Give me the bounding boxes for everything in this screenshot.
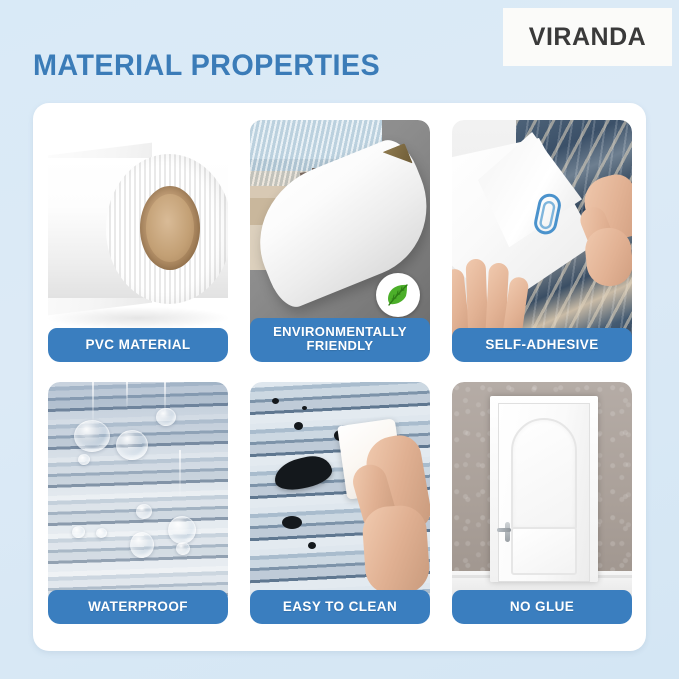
right-hand [566, 176, 632, 286]
feature-card-easy-to-clean[interactable]: EASY TO CLEAN [250, 382, 430, 624]
water-trail [92, 382, 94, 424]
water-droplet [156, 408, 176, 426]
feature-label-self-adhesive: SELF-ADHESIVE [452, 328, 632, 362]
ink-stain [272, 398, 279, 404]
feature-card-self-adhesive[interactable]: SELF-ADHESIVE [452, 120, 632, 362]
water-trail [179, 450, 181, 496]
left-hand [452, 247, 530, 337]
self-adhesive-image [452, 120, 632, 337]
door-handle [501, 522, 513, 542]
waterproof-image [48, 382, 228, 599]
page-title: MATERIAL PROPERTIES [33, 49, 380, 83]
hand [356, 430, 430, 580]
feature-label-no-glue: NO GLUE [452, 590, 632, 624]
ink-stain [302, 406, 307, 410]
sheet-corner-edge [382, 143, 412, 172]
feature-card-waterproof[interactable]: WATERPROOF [48, 382, 228, 624]
feature-label-pvc-material: PVC MATERIAL [48, 328, 228, 362]
brand-logo: VIRANDA [503, 8, 672, 66]
water-droplet [74, 420, 110, 452]
feature-label-waterproof: WATERPROOF [48, 590, 228, 624]
water-droplet [168, 516, 196, 544]
pvc-roll-image [48, 120, 228, 337]
feature-label-line-1: ENVIRONMENTALLY [273, 324, 407, 339]
no-glue-image [452, 382, 632, 599]
roll-core [140, 186, 200, 270]
water-droplet [78, 454, 90, 465]
ink-stain [282, 516, 302, 529]
leaf-icon [376, 273, 420, 317]
feature-card-no-glue[interactable]: NO GLUE [452, 382, 632, 624]
feature-card-environmentally-friendly[interactable]: ENVIRONMENTALLY FRIENDLY [250, 120, 430, 362]
feature-card-pvc-material[interactable]: PVC MATERIAL [48, 120, 228, 362]
door-panel-bottom [511, 527, 577, 575]
water-droplet [96, 528, 107, 538]
feature-label-environmentally-friendly: ENVIRONMENTALLY FRIENDLY [250, 318, 430, 362]
ink-stain-large [272, 452, 335, 493]
features-grid: PVC MATERIAL [48, 120, 633, 624]
eco-sheet-image [250, 120, 430, 327]
water-droplet [136, 504, 152, 519]
water-droplet [130, 532, 154, 558]
water-droplet [176, 542, 190, 555]
water-droplet [72, 526, 85, 538]
feature-label-line-2: FRIENDLY [306, 338, 373, 353]
door-slab [498, 403, 590, 582]
door-frame [490, 396, 598, 582]
easy-to-clean-image [250, 382, 430, 599]
ink-stain [294, 422, 303, 430]
roll-core-inner [146, 194, 194, 262]
brand-name: VIRANDA [529, 23, 646, 52]
ink-stain [308, 542, 316, 549]
feature-label-easy-to-clean: EASY TO CLEAN [250, 590, 430, 624]
water-trail [126, 382, 128, 408]
infographic-page: VIRANDA MATERIAL PROPERTIES PVC MATERIAL [0, 0, 679, 679]
door-panel-top [511, 418, 577, 530]
water-droplet [116, 430, 148, 460]
